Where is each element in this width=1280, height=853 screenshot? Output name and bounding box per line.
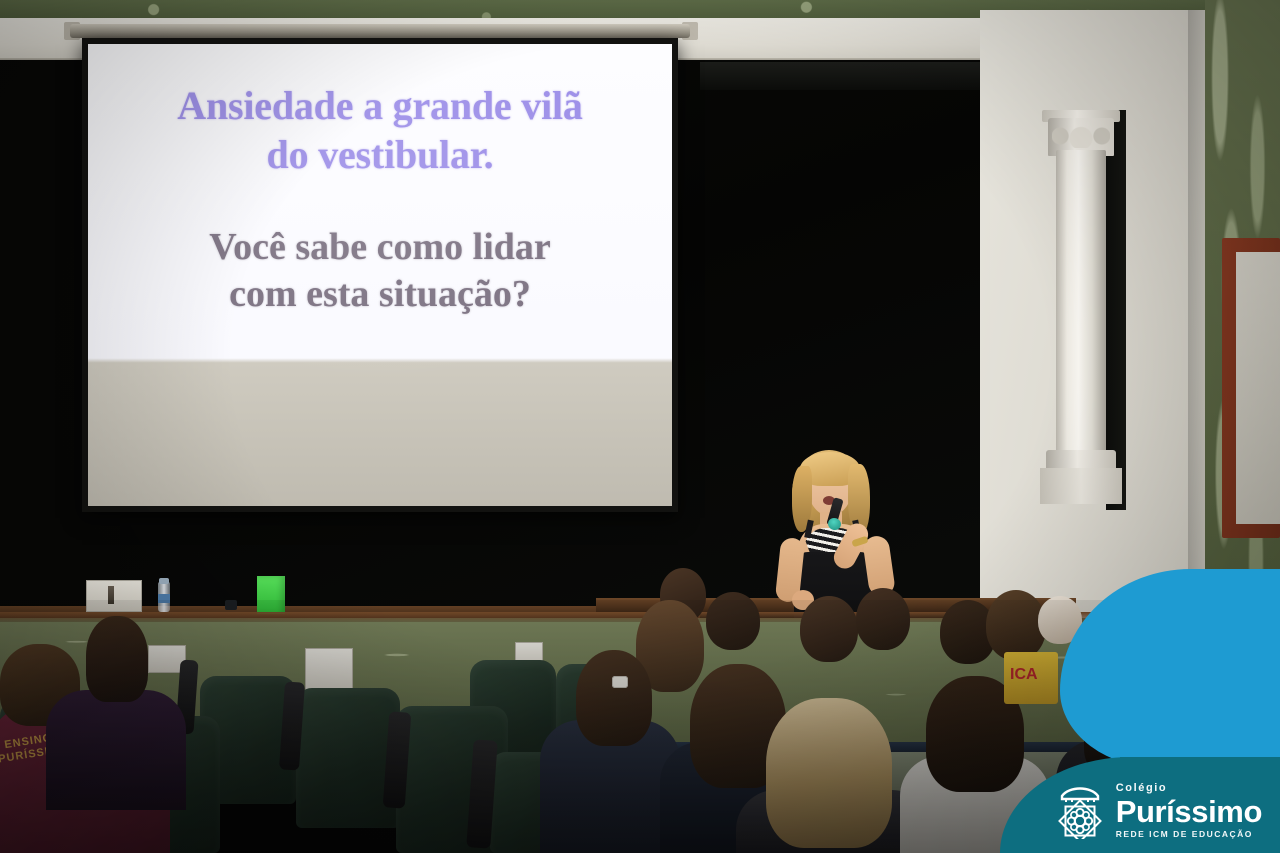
column-capital-volutes — [1052, 124, 1110, 148]
brand-subtitle-rede-icm: REDE ICM DE EDUCAÇÃO — [1116, 830, 1262, 839]
seat-row2-b — [296, 688, 400, 828]
audience-head-back-5 — [856, 588, 910, 650]
audience-head-blonde-front — [766, 698, 892, 848]
bottle-label — [158, 594, 170, 603]
slide-heading-line-2: do vestibular. — [122, 131, 638, 180]
case-latch — [108, 586, 114, 604]
brand-name-purissimo: Puríssimo — [1116, 796, 1262, 827]
photo-canvas: Ansiedade a grande vilã do vestibular. V… — [0, 0, 1280, 853]
audience-head-bun — [576, 650, 652, 746]
audience-head-ponytail — [86, 616, 148, 702]
audience-head-back-4 — [800, 596, 858, 662]
audience-head-back-2 — [706, 592, 760, 650]
audience-shoulders-purple — [46, 690, 186, 810]
brand-blue-corner — [1160, 649, 1280, 769]
white-case-prop — [86, 580, 142, 612]
bottle-cap — [159, 578, 169, 584]
slide-spacer — [122, 180, 638, 224]
small-dark-object — [225, 600, 237, 610]
column-shaft — [1056, 150, 1106, 455]
purissimo-rosette-emblem — [1057, 783, 1103, 839]
screen-roller-bar — [70, 24, 690, 38]
banner-letters: ICA — [1010, 666, 1038, 684]
brand-prefix-colegio: Colégio — [1116, 783, 1262, 794]
slide-question-line-2: com esta situação? — [122, 271, 638, 319]
audience-head-back-7 — [986, 590, 1046, 660]
hair-clip — [612, 676, 628, 688]
slide-heading-line-1: Ansiedade a grande vilã — [122, 82, 638, 131]
presentation-slide: Ansiedade a grande vilã do vestibular. V… — [92, 48, 668, 368]
wall-panel-large-left — [305, 648, 353, 692]
brand-lockup: Colégio Puríssimo REDE ICM DE EDUCAÇÃO — [1057, 783, 1262, 839]
door-panel — [1236, 252, 1280, 524]
brand-text-block: Colégio Puríssimo REDE ICM DE EDUCAÇÃO — [1116, 783, 1262, 839]
slide-question-line-1: Você sabe como lidar — [122, 224, 638, 272]
column-plinth — [1040, 468, 1122, 504]
green-bag-prop — [257, 576, 285, 614]
